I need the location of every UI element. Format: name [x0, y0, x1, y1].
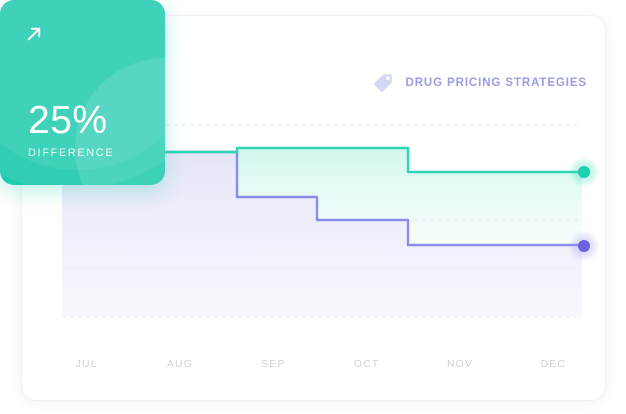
badge-value: 25%: [28, 101, 114, 140]
chart-header: DRUG PRICING STRATEGIES: [372, 72, 588, 94]
chart-title: DRUG PRICING STRATEGIES: [406, 77, 588, 89]
kpi-difference-badge[interactable]: 25% DIFFERENCE: [0, 0, 165, 185]
x-tick-aug: AUG: [133, 358, 226, 378]
x-tick-oct: OCT: [320, 358, 413, 378]
x-tick-nov: NOV: [413, 358, 506, 378]
badge-text-group: 25% DIFFERENCE: [28, 101, 114, 159]
x-tick-jul: JUL: [40, 358, 133, 378]
badge-label: DIFFERENCE: [28, 147, 114, 159]
x-tick-sep: SEP: [227, 358, 320, 378]
tag-icon: [372, 72, 394, 94]
x-tick-dec: DEC: [507, 358, 600, 378]
x-axis: JUL AUG SEP OCT NOV DEC: [40, 358, 600, 378]
